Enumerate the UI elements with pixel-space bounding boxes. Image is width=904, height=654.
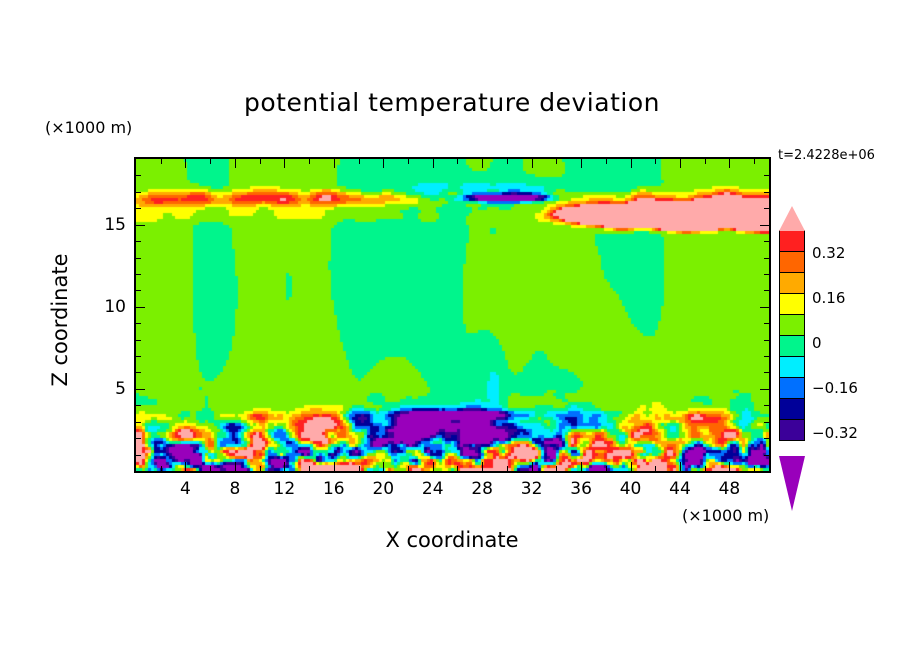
colorbar-band — [779, 377, 805, 400]
x-tick-top — [334, 159, 335, 168]
x-tick-top — [705, 159, 706, 164]
page-title: potential temperature deviation — [0, 88, 904, 117]
x-tick — [383, 462, 384, 471]
x-tick-top — [185, 159, 186, 168]
y-tick — [136, 225, 145, 226]
x-tick — [754, 466, 755, 471]
x-tick — [606, 466, 607, 471]
x-tick — [408, 466, 409, 471]
colorbar-tick-label: −0.16 — [812, 379, 858, 397]
colorbar-band — [779, 335, 805, 358]
x-tick-top — [532, 159, 533, 168]
x-tick-top — [457, 159, 458, 164]
x-tick-top — [210, 159, 211, 164]
y-tick-right — [764, 455, 769, 456]
x-tick — [457, 466, 458, 471]
x-tick-top — [606, 159, 607, 164]
x-tick-label: 32 — [512, 479, 552, 499]
x-tick-top — [359, 159, 360, 164]
x-tick-label: 28 — [462, 479, 502, 499]
y-tick-right — [764, 258, 769, 259]
colorbar-band — [779, 293, 805, 316]
y-tick — [136, 290, 141, 291]
x-tick-label: 20 — [363, 479, 403, 499]
y-tick-right — [764, 438, 769, 439]
x-tick — [433, 462, 434, 471]
x-tick-top — [433, 159, 434, 168]
x-tick-label: 12 — [264, 479, 304, 499]
x-tick-top — [408, 159, 409, 164]
y-tick-right — [760, 389, 769, 390]
x-tick — [482, 462, 483, 471]
x-tick-top — [754, 159, 755, 164]
x-tick — [581, 462, 582, 471]
x-tick-top — [581, 159, 582, 168]
colorbar-tick-label: −0.32 — [812, 424, 858, 442]
x-tick — [260, 466, 261, 471]
y-tick-label: 5 — [86, 379, 126, 399]
x-tick-label: 8 — [215, 479, 255, 499]
x-tick — [185, 462, 186, 471]
x-tick — [655, 466, 656, 471]
y-tick — [136, 405, 141, 406]
x-tick-label: 48 — [709, 479, 749, 499]
x-tick-top — [631, 159, 632, 168]
x-tick — [729, 462, 730, 471]
y-tick-right — [764, 175, 769, 176]
x-tick — [334, 462, 335, 471]
y-tick-right — [764, 340, 769, 341]
y-axis-title: Z coordinate — [48, 200, 72, 440]
y-tick — [136, 192, 141, 193]
x-tick-top — [556, 159, 557, 164]
y-tick-right — [764, 356, 769, 357]
y-tick — [136, 175, 141, 176]
x-tick-top — [309, 159, 310, 164]
x-tick — [161, 466, 162, 471]
y-tick — [136, 356, 141, 357]
contour-field-canvas — [136, 159, 769, 471]
x-tick-top — [680, 159, 681, 168]
x-tick — [680, 462, 681, 471]
x-tick-label: 36 — [561, 479, 601, 499]
y-tick — [136, 438, 141, 439]
colorbar — [779, 231, 805, 456]
colorbar-extend-bottom-arrow — [779, 456, 805, 511]
y-tick-label: 10 — [86, 297, 126, 317]
y-tick — [136, 307, 145, 308]
x-tick-label: 44 — [660, 479, 700, 499]
colorbar-band — [779, 314, 805, 337]
y-tick-right — [764, 422, 769, 423]
colorbar-band — [779, 272, 805, 295]
x-tick-top — [482, 159, 483, 168]
y-tick — [136, 455, 141, 456]
colorbar-band — [779, 230, 805, 253]
y-tick-right — [764, 372, 769, 373]
y-tick-right — [760, 225, 769, 226]
x-tick-top — [260, 159, 261, 164]
x-tick — [309, 466, 310, 471]
y-tick — [136, 340, 141, 341]
y-tick-label: 15 — [86, 215, 126, 235]
colorbar-band — [779, 356, 805, 379]
colorbar-band — [779, 398, 805, 421]
x-axis-title: X coordinate — [0, 528, 904, 552]
y-tick-right — [764, 290, 769, 291]
x-tick — [507, 466, 508, 471]
x-tick-top — [507, 159, 508, 164]
y-tick-right — [764, 241, 769, 242]
y-tick-right — [764, 208, 769, 209]
y-tick — [136, 241, 141, 242]
y-tick-right — [764, 405, 769, 406]
y-tick-right — [764, 192, 769, 193]
y-tick-right — [764, 274, 769, 275]
colorbar-tick-label: 0.32 — [812, 244, 845, 262]
y-tick — [136, 274, 141, 275]
x-tick-label: 24 — [413, 479, 453, 499]
colorbar-band — [779, 419, 805, 442]
colorbar-tick-label: 0.16 — [812, 289, 845, 307]
colorbar-extend-top-arrow — [779, 206, 805, 231]
y-tick-right — [764, 323, 769, 324]
y-tick — [136, 372, 141, 373]
x-tick-label: 40 — [611, 479, 651, 499]
x-tick-top — [729, 159, 730, 168]
x-tick-top — [235, 159, 236, 168]
y-tick — [136, 323, 141, 324]
x-tick — [705, 466, 706, 471]
x-tick — [235, 462, 236, 471]
x-tick — [210, 466, 211, 471]
x-tick-label: 4 — [165, 479, 205, 499]
x-tick — [556, 466, 557, 471]
y-tick — [136, 422, 141, 423]
x-tick — [359, 466, 360, 471]
x-tick-top — [383, 159, 384, 168]
time-annotation: t=2.4228e+06 — [778, 148, 875, 163]
y-tick-right — [760, 307, 769, 308]
x-axis-units-label: (×1000 m) — [682, 506, 769, 525]
y-tick — [136, 389, 145, 390]
y-tick — [136, 208, 141, 209]
x-tick-top — [655, 159, 656, 164]
contour-plot-area — [134, 157, 771, 473]
x-tick-top — [161, 159, 162, 164]
x-tick-label: 16 — [314, 479, 354, 499]
colorbar-tick-label: 0 — [812, 334, 822, 352]
y-tick — [136, 258, 141, 259]
x-tick — [284, 462, 285, 471]
y-axis-units-label: (×1000 m) — [45, 118, 132, 137]
x-tick — [532, 462, 533, 471]
x-tick-top — [284, 159, 285, 168]
colorbar-band — [779, 251, 805, 274]
x-tick — [631, 462, 632, 471]
